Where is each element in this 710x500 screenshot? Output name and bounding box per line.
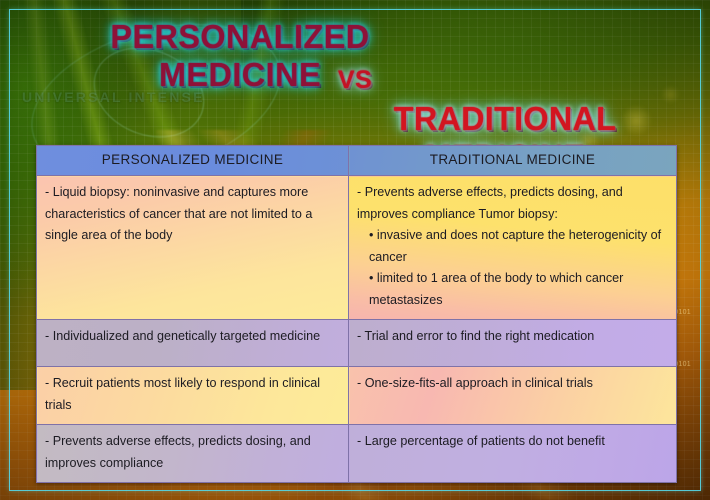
table-head: PERSONALIZED MEDICINE TRADITIONAL MEDICI… [37, 146, 677, 176]
cell-line: - Recruit patients most likely to respon… [45, 373, 340, 416]
cell-line: - Individualized and genetically targete… [45, 326, 340, 348]
table-row: - Liquid biopsy: noninvasive and capture… [37, 176, 677, 320]
cell-personalized-4: - Prevents adverse effects, predicts dos… [37, 425, 349, 483]
cell-line: - Liquid biopsy: noninvasive and capture… [45, 182, 340, 247]
infographic-canvas: 10101 1 10101 UNIVERSAL INTENSE PERSONAL… [0, 0, 710, 500]
cell-traditional-3: - One-size-fits-all approach in clinical… [349, 367, 677, 425]
table-body: - Liquid biopsy: noninvasive and capture… [37, 176, 677, 483]
cell-personalized-2: - Individualized and genetically targete… [37, 320, 349, 367]
cell-line: - Prevents adverse effects, predicts dos… [357, 182, 668, 225]
cell-bullet-line: • limited to 1 area of the body to which… [357, 268, 668, 311]
cell-personalized-1: - Liquid biopsy: noninvasive and capture… [37, 176, 349, 320]
cell-traditional-4: - Large percentage of patients do not be… [349, 425, 677, 483]
cell-traditional-1: - Prevents adverse effects, predicts dos… [349, 176, 677, 320]
column-header-traditional: TRADITIONAL MEDICINE [349, 146, 677, 176]
cell-line: - Prevents adverse effects, predicts dos… [45, 431, 340, 474]
comparison-table: PERSONALIZED MEDICINE TRADITIONAL MEDICI… [36, 145, 677, 483]
cell-personalized-3: - Recruit patients most likely to respon… [37, 367, 349, 425]
cell-line: - Trial and error to find the right medi… [357, 326, 668, 348]
cell-line: - One-size-fits-all approach in clinical… [357, 373, 668, 395]
table-row: - Recruit patients most likely to respon… [37, 367, 677, 425]
table-row: - Individualized and genetically targete… [37, 320, 677, 367]
column-header-personalized: PERSONALIZED MEDICINE [37, 146, 349, 176]
table-header-row: PERSONALIZED MEDICINE TRADITIONAL MEDICI… [37, 146, 677, 176]
cell-traditional-2: - Trial and error to find the right medi… [349, 320, 677, 367]
table-row: - Prevents adverse effects, predicts dos… [37, 425, 677, 483]
cell-line: - Large percentage of patients do not be… [357, 431, 668, 453]
cell-bullet-line: • invasive and does not capture the hete… [357, 225, 668, 268]
